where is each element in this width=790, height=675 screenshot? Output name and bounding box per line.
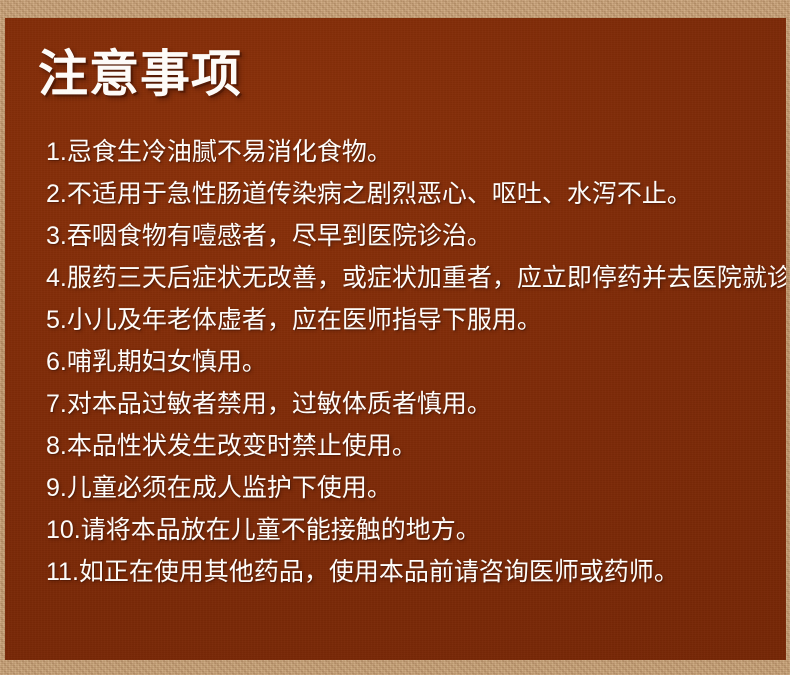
list-item: 5.小儿及年老体虚者，应在医师指导下服用。 bbox=[46, 299, 781, 341]
list-item: 4.服药三天后症状无改善，或症状加重者，应立即停药并去医院就诊。 bbox=[46, 257, 781, 299]
notice-panel: 注意事项 1.忌食生冷油腻不易消化食物。 2.不适用于急性肠道传染病之剧烈恶心、… bbox=[5, 18, 786, 660]
list-item: 2.不适用于急性肠道传染病之剧烈恶心、呕吐、水泻不止。 bbox=[46, 173, 781, 215]
list-item: 3.吞咽食物有噎感者，尽早到医院诊治。 bbox=[46, 215, 781, 257]
page-title: 注意事项 bbox=[38, 45, 242, 103]
list-item: 8.本品性状发生改变时禁止使用。 bbox=[46, 425, 781, 467]
notice-list: 1.忌食生冷油腻不易消化食物。 2.不适用于急性肠道传染病之剧烈恶心、呕吐、水泻… bbox=[46, 131, 781, 593]
list-item: 9.儿童必须在成人监护下使用。 bbox=[46, 467, 781, 509]
list-item: 11.如正在使用其他药品，使用本品前请咨询医师或药师。 bbox=[46, 551, 781, 593]
product-detail-banner: 注意事项 1.忌食生冷油腻不易消化食物。 2.不适用于急性肠道传染病之剧烈恶心、… bbox=[0, 0, 790, 675]
list-item: 6.哺乳期妇女慎用。 bbox=[46, 341, 781, 383]
list-item: 1.忌食生冷油腻不易消化食物。 bbox=[46, 131, 781, 173]
list-item: 10.请将本品放在儿童不能接触的地方。 bbox=[46, 509, 781, 551]
list-item: 7.对本品过敏者禁用，过敏体质者慎用。 bbox=[46, 383, 781, 425]
